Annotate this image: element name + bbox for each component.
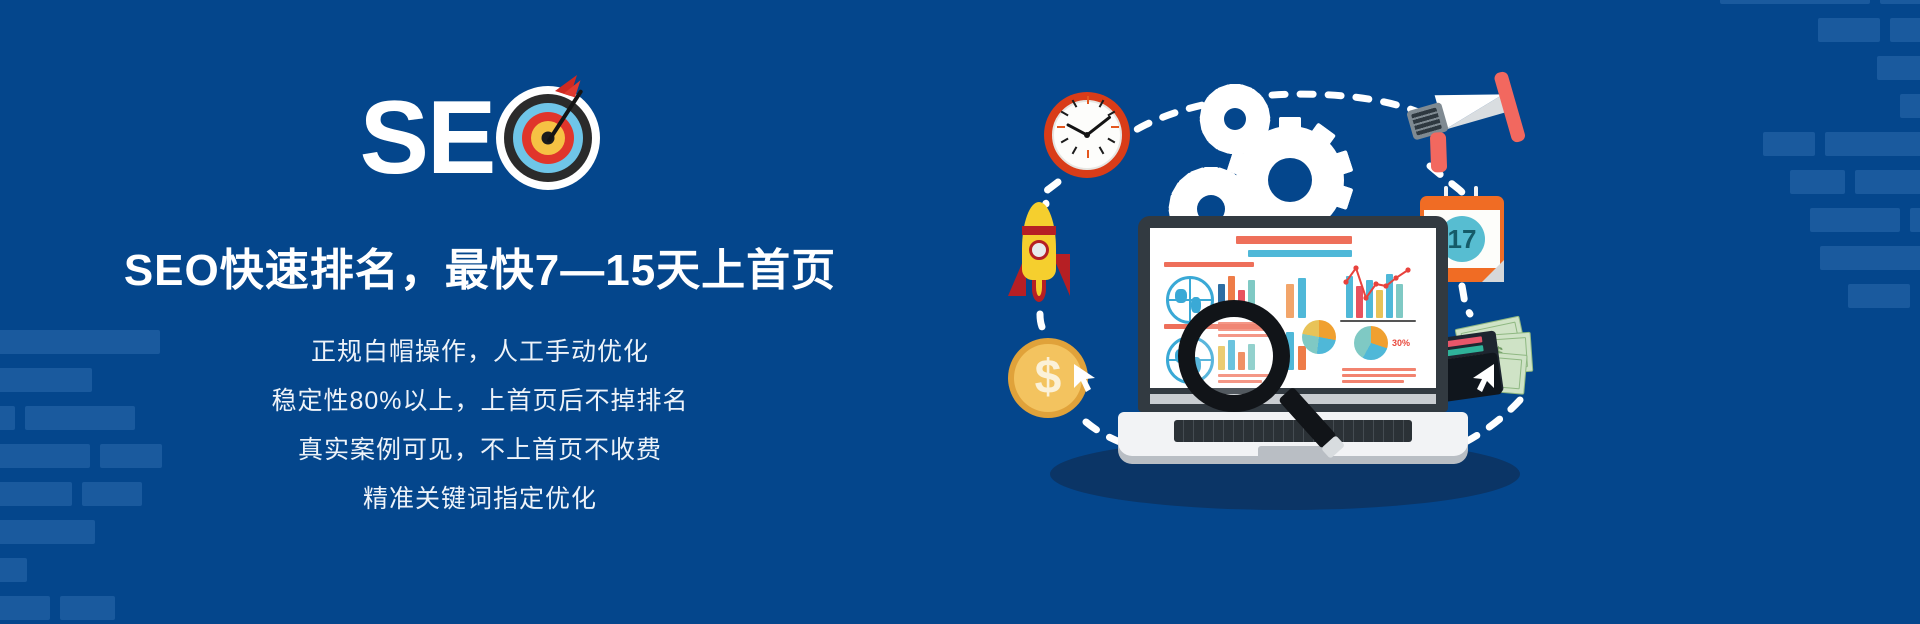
feature-line: 精准关键词指定优化 bbox=[363, 479, 597, 515]
cursor-pointer-icon bbox=[1072, 362, 1098, 394]
code-decoration-block bbox=[1855, 170, 1920, 194]
code-decoration-row bbox=[1720, 284, 1920, 308]
code-decoration-block bbox=[1810, 208, 1900, 232]
line-chart bbox=[1340, 264, 1416, 322]
code-decoration-block bbox=[1848, 284, 1910, 308]
megaphone-icon bbox=[1396, 67, 1533, 182]
code-decoration-row bbox=[1720, 18, 1920, 42]
logo-se-text: SE bbox=[360, 86, 495, 190]
code-decoration-block bbox=[1763, 132, 1815, 156]
code-decoration-block bbox=[1720, 0, 1870, 4]
chart-percent-label: 30% bbox=[1392, 338, 1410, 348]
code-decoration-row bbox=[1720, 0, 1920, 4]
feature-line: 稳定性80%以上，上首页后不掉排名 bbox=[271, 381, 688, 417]
feature-line: 真实案例可见，不上首页不收费 bbox=[298, 430, 662, 466]
code-decoration-block bbox=[1820, 246, 1920, 270]
rocket-icon bbox=[1008, 202, 1070, 312]
seo-analytics-illustration: $ 17 $ bbox=[1000, 70, 1620, 530]
code-decoration-row bbox=[1720, 56, 1920, 80]
text-content-column: SE SEO快速排名，最快7—15天上首页 正规白帽操作，人工手动优化 稳定性8… bbox=[0, 0, 960, 624]
code-decoration-block bbox=[1877, 56, 1920, 80]
code-decoration-block bbox=[1818, 18, 1880, 42]
code-decoration-block bbox=[1790, 170, 1845, 194]
code-decoration-block bbox=[1825, 132, 1920, 156]
code-decoration-row bbox=[1720, 132, 1920, 156]
feature-line: 正规白帽操作，人工手动优化 bbox=[311, 332, 649, 368]
pie-chart bbox=[1354, 326, 1388, 360]
alarm-clock-icon bbox=[1044, 92, 1130, 178]
headline: SEO快速排名，最快7—15天上首页 bbox=[124, 234, 836, 298]
code-decoration-block bbox=[1900, 94, 1920, 118]
feature-list: 正规白帽操作，人工手动优化 稳定性80%以上，上首页后不掉排名 真实案例可见，不… bbox=[271, 332, 688, 515]
seo-promo-banner: SE SEO快速排名，最快7—15天上首页 正规白帽操作，人工手动优化 稳定性8… bbox=[0, 0, 1920, 624]
dartboard-target-icon bbox=[496, 86, 600, 190]
magnifying-glass-icon bbox=[1178, 300, 1310, 432]
code-decoration-row bbox=[1720, 246, 1920, 270]
code-decoration-row bbox=[1720, 170, 1920, 194]
code-decoration-block bbox=[1880, 0, 1920, 4]
code-decoration-row bbox=[1720, 94, 1920, 118]
gear-tiny-icon bbox=[1206, 90, 1264, 148]
laptop-trackpad bbox=[1258, 446, 1328, 460]
code-decoration-row bbox=[1720, 208, 1920, 232]
seo-logo: SE bbox=[360, 86, 601, 190]
right-code-decoration bbox=[1720, 0, 1920, 322]
code-decoration-block bbox=[1890, 18, 1920, 42]
code-decoration-block bbox=[1910, 208, 1920, 232]
cursor-pointer-icon bbox=[1470, 362, 1496, 394]
